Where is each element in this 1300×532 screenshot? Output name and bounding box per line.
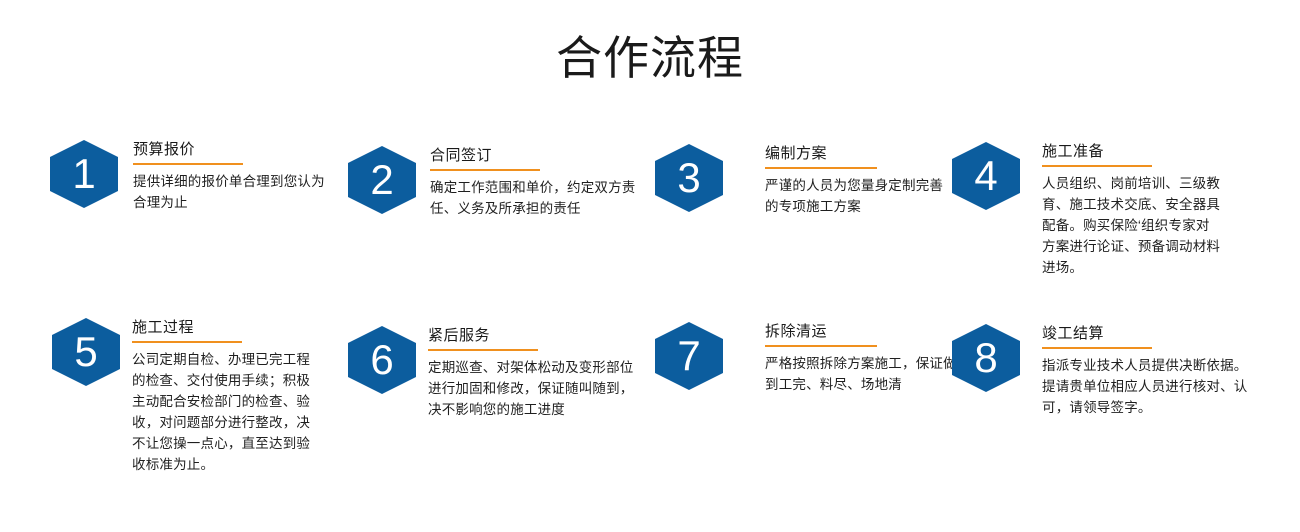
step-underline-6 [428, 349, 538, 351]
step-title-6: 紧后服务 [428, 326, 641, 346]
step-number-3: 3 [655, 144, 723, 212]
step-title-1: 预算报价 [133, 140, 333, 160]
step-number-2: 2 [348, 146, 416, 214]
step-title-8: 竣工结算 [1042, 324, 1257, 344]
step-title-2: 合同签订 [430, 146, 645, 166]
step-number-8: 8 [952, 324, 1020, 392]
step-content-7: 拆除清运 严格按照拆除方案施工，保证做到工完、料尽、场地清 [765, 322, 961, 395]
step-underline-1 [133, 163, 243, 165]
step-title-3: 编制方案 [765, 144, 955, 164]
step-underline-3 [765, 167, 877, 169]
step-description-3: 严谨的人员为您量身定制完善的专项施工方案 [765, 175, 955, 217]
step-description-4: 人员组织、岗前培训、三级教育、施工技术交底、安全器具配备。购买保险‘组织专家对方… [1042, 173, 1222, 278]
step-underline-2 [430, 169, 540, 171]
step-number-6: 6 [348, 326, 416, 394]
step-content-1: 预算报价 提供详细的报价单合理到您认为合理为止 [133, 140, 333, 213]
step-underline-8 [1042, 347, 1152, 349]
step-underline-4 [1042, 165, 1152, 167]
step-description-8: 指派专业技术人员提供决断依据。提请贵单位相应人员进行核对、认可，请领导签字。 [1042, 355, 1257, 418]
step-title-5: 施工过程 [132, 318, 322, 338]
step-content-2: 合同签订 确定工作范围和单价，约定双方责任、义务及所承担的责任 [430, 146, 645, 219]
step-content-8: 竣工结算 指派专业技术人员提供决断依据。提请贵单位相应人员进行核对、认可，请领导… [1042, 324, 1257, 418]
step-underline-5 [132, 341, 242, 343]
step-title-7: 拆除清运 [765, 322, 961, 342]
page-title: 合作流程 [0, 28, 1300, 88]
step-number-4: 4 [952, 142, 1020, 210]
step-content-4: 施工准备 人员组织、岗前培训、三级教育、施工技术交底、安全器具配备。购买保险‘组… [1042, 142, 1222, 278]
step-content-3: 编制方案 严谨的人员为您量身定制完善的专项施工方案 [765, 144, 955, 217]
step-description-5: 公司定期自检、办理已完工程的检查、交付使用手续；积极主动配合安检部门的检查、验收… [132, 349, 322, 475]
step-number-1: 1 [50, 140, 118, 208]
step-description-7: 严格按照拆除方案施工，保证做到工完、料尽、场地清 [765, 353, 961, 395]
step-number-7: 7 [655, 322, 723, 390]
step-content-6: 紧后服务 定期巡查、对架体松动及变形部位进行加固和修改，保证随叫随到，决不影响您… [428, 326, 641, 420]
step-title-4: 施工准备 [1042, 142, 1222, 162]
step-description-1: 提供详细的报价单合理到您认为合理为止 [133, 171, 333, 213]
step-content-5: 施工过程 公司定期自检、办理已完工程的检查、交付使用手续；积极主动配合安检部门的… [132, 318, 322, 475]
step-description-6: 定期巡查、对架体松动及变形部位进行加固和修改，保证随叫随到，决不影响您的施工进度 [428, 357, 641, 420]
step-description-2: 确定工作范围和单价，约定双方责任、义务及所承担的责任 [430, 177, 645, 219]
step-underline-7 [765, 345, 877, 347]
step-number-5: 5 [52, 318, 120, 386]
